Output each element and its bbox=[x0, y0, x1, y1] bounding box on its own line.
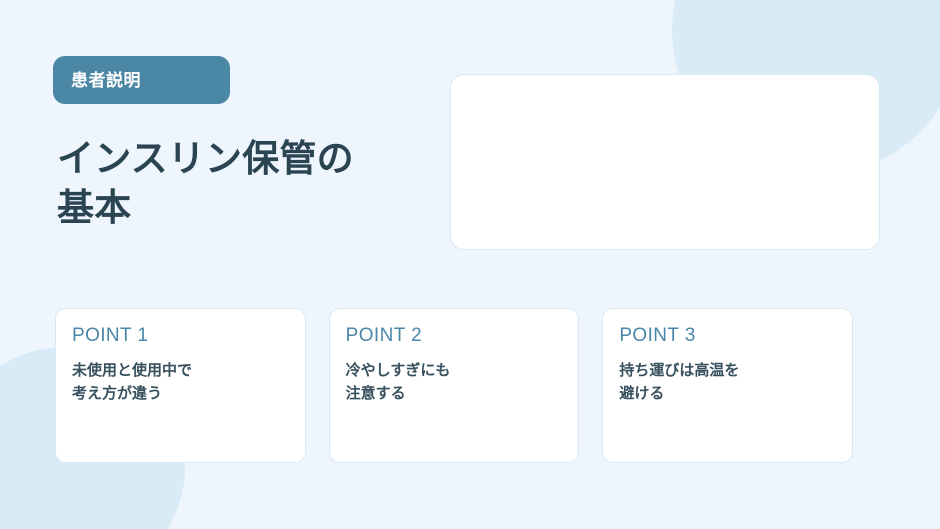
points-row: POINT 1 未使用と使用中で 考え方が違う POINT 2 冷やしすぎにも … bbox=[55, 308, 853, 463]
point-card-body: 持ち運びは高温を 避ける bbox=[619, 359, 836, 406]
point-card-1: POINT 1 未使用と使用中で 考え方が違う bbox=[55, 308, 306, 463]
page-title: インスリン保管の 基本 bbox=[57, 134, 417, 232]
point-card-heading: POINT 1 bbox=[72, 325, 289, 348]
point-card-body: 冷やしすぎにも 注意する bbox=[346, 359, 563, 406]
badge-label: 患者説明 bbox=[71, 72, 141, 89]
point-card-heading: POINT 2 bbox=[346, 325, 563, 348]
point-card-body: 未使用と使用中で 考え方が違う bbox=[72, 359, 289, 406]
point-card-3: POINT 3 持ち運びは高温を 避ける bbox=[602, 308, 853, 463]
image-placeholder-panel bbox=[450, 74, 880, 250]
point-card-2: POINT 2 冷やしすぎにも 注意する bbox=[329, 308, 580, 463]
point-card-heading: POINT 3 bbox=[619, 325, 836, 348]
patient-explanation-badge: 患者説明 bbox=[53, 56, 230, 104]
slide-canvas: 患者説明 インスリン保管の 基本 POINT 1 未使用と使用中で 考え方が違う… bbox=[0, 0, 940, 529]
